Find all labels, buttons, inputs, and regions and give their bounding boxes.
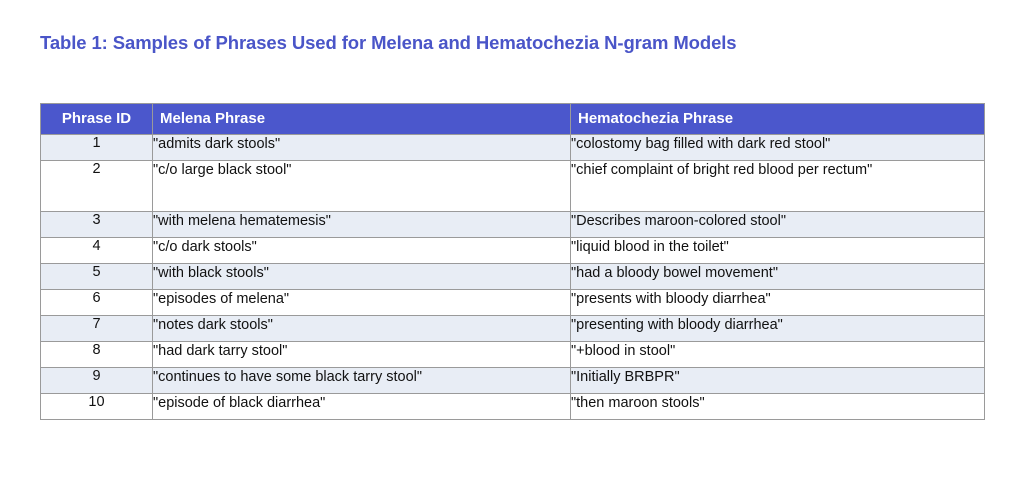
- table-row: 6 "episodes of melena" "presents with bl…: [41, 290, 985, 316]
- table-row: 2 "c/o large black stool" "chief complai…: [41, 161, 985, 212]
- column-header-melena-phrase: Melena Phrase: [153, 104, 571, 135]
- cell-melena-phrase: "admits dark stools": [153, 135, 571, 161]
- cell-phrase-id: 9: [41, 368, 153, 394]
- cell-hematochezia-phrase: "chief complaint of bright red blood per…: [571, 161, 985, 212]
- cell-phrase-id: 5: [41, 264, 153, 290]
- table-row: 1 "admits dark stools" "colostomy bag fi…: [41, 135, 985, 161]
- cell-hematochezia-phrase: "Initially BRBPR": [571, 368, 985, 394]
- table-caption: Table 1: Samples of Phrases Used for Mel…: [40, 30, 770, 55]
- table-body: 1 "admits dark stools" "colostomy bag fi…: [41, 135, 985, 420]
- cell-phrase-id: 6: [41, 290, 153, 316]
- document-page: Table 1: Samples of Phrases Used for Mel…: [0, 0, 1024, 479]
- table-row: 7 "notes dark stools" "presenting with b…: [41, 316, 985, 342]
- cell-phrase-id: 10: [41, 394, 153, 420]
- cell-hematochezia-phrase: "+blood in stool": [571, 342, 985, 368]
- cell-melena-phrase: "continues to have some black tarry stoo…: [153, 368, 571, 394]
- cell-hematochezia-phrase: "presenting with bloody diarrhea": [571, 316, 985, 342]
- table-row: 9 "continues to have some black tarry st…: [41, 368, 985, 394]
- cell-hematochezia-phrase: "colostomy bag filled with dark red stoo…: [571, 135, 985, 161]
- cell-phrase-id: 1: [41, 135, 153, 161]
- cell-melena-phrase: "with black stools": [153, 264, 571, 290]
- table-row: 8 "had dark tarry stool" "+blood in stoo…: [41, 342, 985, 368]
- phrase-samples-table: Phrase ID Melena Phrase Hematochezia Phr…: [40, 103, 985, 420]
- table-container: Phrase ID Melena Phrase Hematochezia Phr…: [40, 103, 984, 420]
- table-row: 3 "with melena hematemesis" "Describes m…: [41, 212, 985, 238]
- table-row: 4 "c/o dark stools" "liquid blood in the…: [41, 238, 985, 264]
- table-row: 5 "with black stools" "had a bloody bowe…: [41, 264, 985, 290]
- cell-phrase-id: 7: [41, 316, 153, 342]
- table-header-row: Phrase ID Melena Phrase Hematochezia Phr…: [41, 104, 985, 135]
- column-header-phrase-id: Phrase ID: [41, 104, 153, 135]
- cell-hematochezia-phrase: "had a bloody bowel movement": [571, 264, 985, 290]
- cell-phrase-id: 2: [41, 161, 153, 212]
- cell-melena-phrase: "episodes of melena": [153, 290, 571, 316]
- cell-phrase-id: 3: [41, 212, 153, 238]
- cell-melena-phrase: "had dark tarry stool": [153, 342, 571, 368]
- cell-melena-phrase: "with melena hematemesis": [153, 212, 571, 238]
- cell-hematochezia-phrase: "then maroon stools": [571, 394, 985, 420]
- column-header-hematochezia-phrase: Hematochezia Phrase: [571, 104, 985, 135]
- cell-phrase-id: 4: [41, 238, 153, 264]
- cell-hematochezia-phrase: "Describes maroon-colored stool": [571, 212, 985, 238]
- table-row: 10 "episode of black diarrhea" "then mar…: [41, 394, 985, 420]
- cell-hematochezia-phrase: "presents with bloody diarrhea": [571, 290, 985, 316]
- cell-melena-phrase: "c/o dark stools": [153, 238, 571, 264]
- cell-melena-phrase: "episode of black diarrhea": [153, 394, 571, 420]
- cell-hematochezia-phrase: "liquid blood in the toilet": [571, 238, 985, 264]
- cell-melena-phrase: "notes dark stools": [153, 316, 571, 342]
- table-header: Phrase ID Melena Phrase Hematochezia Phr…: [41, 104, 985, 135]
- cell-melena-phrase: "c/o large black stool": [153, 161, 571, 212]
- cell-phrase-id: 8: [41, 342, 153, 368]
